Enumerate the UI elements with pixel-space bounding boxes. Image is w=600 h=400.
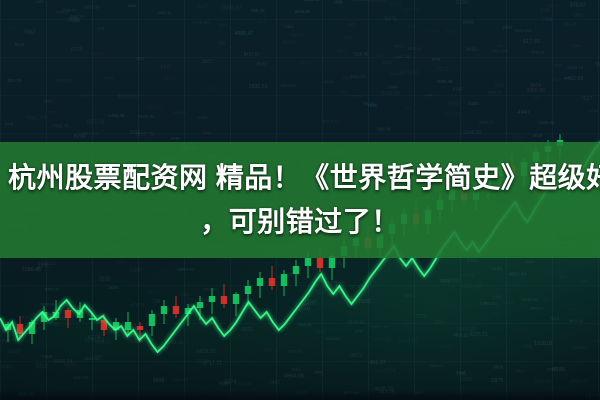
banner-title-line-1: 杭州股票配资网 精品！《世界哲学简史》超级好看 <box>0 156 600 200</box>
title-overlay-band: 杭州股票配资网 精品！《世界哲学简史》超级好看 ，可别错过了！ <box>0 142 600 258</box>
banner-image: 7090.454373193485578713.3532446622.10692… <box>0 0 600 400</box>
banner-title-line-2: ，可别错过了！ <box>0 200 600 244</box>
